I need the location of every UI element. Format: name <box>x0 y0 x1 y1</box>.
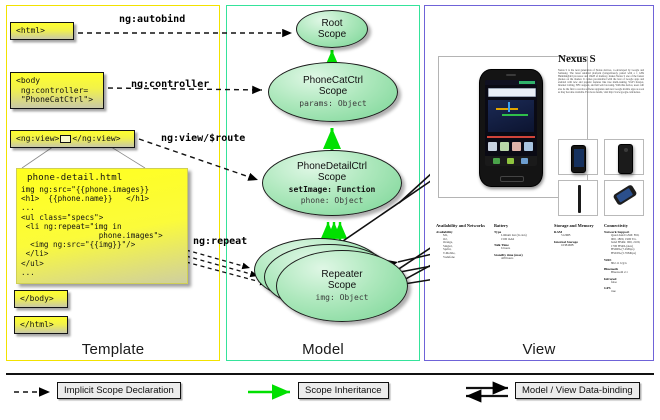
legend-item-data-binding: Model / View Data-binding <box>515 382 640 399</box>
spec-value-battery-type: Lithium Ion (Li-Ion) 1500 mAh <box>501 234 546 241</box>
scope-detail-prop-phone: phone: Object <box>301 196 364 206</box>
note-code: img ng:src="{{phone.images}} <h1> {{phon… <box>17 185 187 277</box>
thumbnail-3[interactable] <box>558 180 598 216</box>
thumb2-camera <box>624 148 628 152</box>
tag-html-close[interactable]: </html> <box>14 316 68 334</box>
scope-repeater[interactable]: Repeater Scope img: Object <box>276 250 408 322</box>
spec-header-battery: Battery <box>494 223 546 228</box>
view-mock-page: Nexus S Nexus S is the next generation o… <box>430 11 648 341</box>
thumb2-phone-back <box>618 144 633 174</box>
phone-home-button <box>500 176 524 182</box>
dock-icon-phone <box>493 158 500 164</box>
scope-cat-prop-params: params: Object <box>299 99 366 109</box>
scope-detail-prop-setimage: setImage: Function <box>289 185 376 195</box>
spec-header-connectivity: Connectivity <box>604 223 648 228</box>
legend-divider <box>6 373 654 375</box>
phone-statusbar <box>485 80 537 85</box>
thumb3-phone-edge <box>578 185 581 213</box>
spec-value-ram: 512MB <box>561 234 604 238</box>
scope-phonecatctrl[interactable]: PhoneCatCtrl Scope params: Object <box>268 62 398 122</box>
spec-value-internal-storage: 16384MB <box>561 244 604 248</box>
thumb1-phone <box>571 145 586 173</box>
panel-title-view: View <box>425 341 653 358</box>
scope-root-name-1: Root <box>321 18 342 29</box>
scope-detail-name-1: PhoneDetailCtrl <box>297 161 367 172</box>
spec-value-bluetooth: Bluetooth 2.1 <box>611 271 648 275</box>
thumb4-phone-angled <box>612 184 637 206</box>
spec-value-gps: true <box>611 290 648 294</box>
tag-body-open[interactable]: <body ng:controller= "PhoneCatCtrl"> <box>10 72 104 109</box>
spec-value-availability: M1, O2, Orange, Singtel, Sprint, T-Mobil… <box>443 234 486 259</box>
scope-cat-name-1: PhoneCatCtrl <box>303 75 363 86</box>
thumbnail-4[interactable] <box>604 180 644 216</box>
spec-value-standby: 428 hours <box>501 257 546 261</box>
view-page-title: Nexus S <box>558 53 596 65</box>
scope-cat-name-2: Scope <box>319 86 347 97</box>
tag-ngview[interactable]: <ng:view></ng:view> <box>10 130 135 148</box>
phone-illustration <box>479 69 543 187</box>
spec-column-battery: Battery Type Lithium Ion (Li-Ion) 1500 m… <box>494 223 546 260</box>
scope-root-name-2: Scope <box>318 29 346 40</box>
spec-value-wifi: 802.11 b/g/n <box>611 262 648 266</box>
ngview-slot-icon <box>60 135 71 143</box>
label-ng-repeat: ng:repeat <box>193 236 247 247</box>
phone-earpiece <box>506 74 516 76</box>
dock-icon-apps <box>507 158 514 164</box>
tag-html-open[interactable]: <html> <box>10 22 74 40</box>
app-icon-4 <box>524 142 533 151</box>
label-ng-controller: ng:controller <box>131 79 209 90</box>
app-icon-3 <box>512 142 521 151</box>
phone-app-row <box>488 142 534 154</box>
ngview-close-label: </ng:view> <box>72 134 120 143</box>
panel-title-model: Model <box>227 341 419 358</box>
thumbnail-2[interactable] <box>604 139 644 175</box>
view-page-description: Nexus S is the next generation of Nexus … <box>558 69 644 94</box>
note-filename: phone-detail.html <box>17 169 187 185</box>
dock-icon-browser <box>521 158 528 164</box>
phone-screen <box>485 80 537 166</box>
phone-dock <box>485 156 537 166</box>
spec-value-talk-time: 6 hours <box>501 247 546 251</box>
legend-item-implicit-scope: Implicit Scope Declaration <box>57 382 181 399</box>
label-ng-autobind: ng:autobind <box>119 14 185 25</box>
app-icon-2 <box>500 142 509 151</box>
spec-header-availability: Availability and Networks <box>436 223 486 228</box>
spec-value-infrared: false <box>611 281 648 285</box>
scope-repeater-name-2: Scope <box>328 280 356 291</box>
spec-column-storage: Storage and Memory RAM 512MB Internal St… <box>554 223 604 247</box>
wallpaper-streak-green <box>502 114 528 116</box>
scope-repeater-prop-img: img: Object <box>316 293 369 303</box>
label-ng-view-route: ng:view/$route <box>161 133 245 144</box>
legend-item-scope-inheritance: Scope Inheritance <box>298 382 389 399</box>
spec-value-network: Quad-band GSM: 850, 900, 1800, 1900 Tri-… <box>611 234 648 256</box>
scope-root[interactable]: Root Scope <box>296 10 368 48</box>
sticky-note-phone-detail[interactable]: phone-detail.html img ng:src="{{phone.im… <box>16 168 188 284</box>
app-icon-1 <box>488 142 497 151</box>
thumb1-screen <box>574 149 584 167</box>
phone-divider <box>487 136 535 138</box>
scope-phonedetailctrl[interactable]: PhoneDetailCtrl Scope setImage: Function… <box>262 150 402 216</box>
spec-column-availability: Availability and Networks Availability M… <box>436 223 486 259</box>
thumbnail-1[interactable] <box>558 139 598 175</box>
wallpaper-streak-amber <box>496 108 518 110</box>
thumb4-screen <box>616 188 633 203</box>
ngview-open-label: <ng:view> <box>16 134 59 143</box>
phone-search-widget <box>488 88 536 97</box>
wallpaper-streak-blue <box>508 102 510 112</box>
phone-status-icons <box>519 81 535 84</box>
spec-column-connectivity: Connectivity Network Support Quad-band G… <box>604 223 648 294</box>
scope-detail-name-2: Scope <box>318 172 346 183</box>
diagram-canvas: Template Model View <box>0 0 660 420</box>
panel-title-template: Template <box>7 341 219 358</box>
spec-header-storage: Storage and Memory <box>554 223 604 228</box>
tag-body-close[interactable]: </body> <box>14 290 68 308</box>
phone-wallpaper <box>488 100 534 132</box>
scope-repeater-name-1: Repeater <box>321 269 362 280</box>
